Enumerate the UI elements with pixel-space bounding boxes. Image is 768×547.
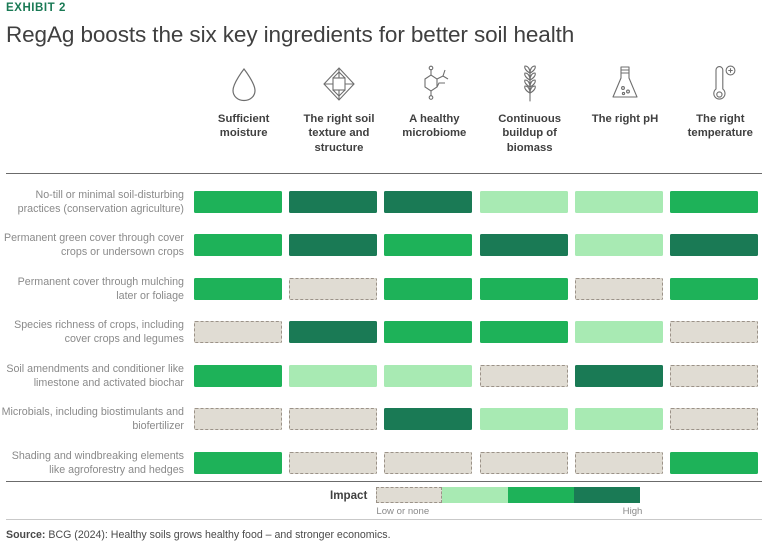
source-note: Source: BCG (2024): Healthy soils grows … bbox=[6, 529, 391, 541]
impact-cell[interactable] bbox=[575, 452, 663, 474]
impact-cell[interactable] bbox=[384, 365, 472, 387]
impact-cell[interactable] bbox=[384, 191, 472, 213]
impact-cell[interactable] bbox=[289, 365, 377, 387]
impact-cell[interactable] bbox=[670, 452, 758, 474]
row-label: Soil amendments and conditioner like lim… bbox=[0, 362, 190, 390]
impact-cell[interactable] bbox=[480, 234, 568, 256]
table-row: Permanent cover through mulching later o… bbox=[0, 267, 768, 311]
impact-cell[interactable] bbox=[670, 278, 758, 300]
impact-cell[interactable] bbox=[575, 278, 663, 300]
column-header-label: The right soil texture and structure bbox=[291, 112, 386, 155]
table-row: No-till or minimal soil-disturbing pract… bbox=[0, 180, 768, 224]
impact-cell[interactable] bbox=[194, 452, 282, 474]
impact-cell[interactable] bbox=[194, 278, 282, 300]
impact-cell[interactable] bbox=[480, 365, 568, 387]
impact-cell[interactable] bbox=[289, 321, 377, 343]
column-headers: Sufficient moisture The right soil textu… bbox=[196, 62, 768, 166]
table-row: Shading and windbreaking elements like a… bbox=[0, 441, 768, 485]
row-cells bbox=[190, 180, 762, 224]
impact-cell[interactable] bbox=[289, 278, 377, 300]
column-header-soil-structure: The right soil texture and structure bbox=[291, 62, 386, 166]
impact-cell[interactable] bbox=[289, 452, 377, 474]
legend-title: Impact bbox=[330, 489, 367, 502]
impact-cell[interactable] bbox=[194, 191, 282, 213]
table-row: Soil amendments and conditioner like lim… bbox=[0, 354, 768, 398]
row-cells bbox=[190, 398, 762, 442]
row-label: Permanent cover through mulching later o… bbox=[0, 275, 190, 303]
impact-cell[interactable] bbox=[480, 452, 568, 474]
legend-scale-wrap: Low or none High bbox=[376, 487, 642, 517]
column-header-microbiome: A healthy microbiome bbox=[387, 62, 482, 166]
impact-cell[interactable] bbox=[575, 365, 663, 387]
table-row: Species richness of crops, including cov… bbox=[0, 311, 768, 355]
row-cells bbox=[190, 441, 762, 485]
column-header-label: The right temperature bbox=[673, 112, 768, 141]
wheat-stalk-icon bbox=[508, 62, 552, 106]
impact-cell[interactable] bbox=[575, 191, 663, 213]
soil-structure-icon bbox=[317, 62, 361, 106]
impact-cell[interactable] bbox=[480, 408, 568, 430]
row-cells bbox=[190, 311, 762, 355]
footer-divider bbox=[6, 519, 762, 520]
row-label: Permanent green cover through cover crop… bbox=[0, 231, 190, 259]
impact-cell[interactable] bbox=[194, 234, 282, 256]
column-header-temperature: The right temperature bbox=[673, 62, 768, 166]
impact-cell[interactable] bbox=[575, 321, 663, 343]
impact-cell[interactable] bbox=[289, 234, 377, 256]
impact-cell[interactable] bbox=[480, 321, 568, 343]
exhibit-label: EXHIBIT 2 bbox=[6, 2, 66, 14]
impact-cell[interactable] bbox=[194, 408, 282, 430]
column-header-label: Continuous buildup of biomass bbox=[482, 112, 577, 155]
impact-cell[interactable] bbox=[384, 278, 472, 300]
row-label: Species richness of crops, including cov… bbox=[0, 318, 190, 346]
column-header-moisture: Sufficient moisture bbox=[196, 62, 291, 166]
exhibit-page: EXHIBIT 2 RegAg boosts the six key ingre… bbox=[0, 0, 768, 547]
legend-captions: Low or none High bbox=[376, 506, 642, 517]
legend: Impact Low or none High bbox=[330, 487, 642, 517]
impact-cell[interactable] bbox=[194, 365, 282, 387]
table-row: Microbials, including biostimulants and … bbox=[0, 398, 768, 442]
impact-cell[interactable] bbox=[670, 408, 758, 430]
impact-cell[interactable] bbox=[384, 452, 472, 474]
column-header-label: Sufficient moisture bbox=[196, 112, 291, 141]
table-row: Permanent green cover through cover crop… bbox=[0, 224, 768, 268]
impact-cell[interactable] bbox=[670, 234, 758, 256]
header-divider bbox=[6, 173, 762, 174]
column-header-biomass: Continuous buildup of biomass bbox=[482, 62, 577, 166]
row-label: No-till or minimal soil-disturbing pract… bbox=[0, 188, 190, 216]
legend-caption-low: Low or none bbox=[376, 506, 429, 517]
legend-scale bbox=[376, 487, 642, 503]
source-label: Source: bbox=[6, 529, 45, 541]
impact-cell[interactable] bbox=[384, 321, 472, 343]
impact-cell[interactable] bbox=[289, 191, 377, 213]
impact-cell[interactable] bbox=[194, 321, 282, 343]
impact-cell[interactable] bbox=[575, 408, 663, 430]
legend-swatch-none bbox=[376, 487, 442, 503]
impact-cell[interactable] bbox=[480, 278, 568, 300]
thermometer-icon bbox=[698, 62, 742, 106]
impact-matrix: No-till or minimal soil-disturbing pract… bbox=[0, 180, 768, 485]
legend-swatch-medium bbox=[508, 487, 574, 503]
water-droplet-icon bbox=[222, 62, 266, 106]
impact-cell[interactable] bbox=[384, 408, 472, 430]
row-label: Microbials, including biostimulants and … bbox=[0, 405, 190, 433]
impact-cell[interactable] bbox=[480, 191, 568, 213]
legend-swatch-low bbox=[442, 487, 508, 503]
impact-cell[interactable] bbox=[289, 408, 377, 430]
legend-caption-high: High bbox=[623, 506, 643, 517]
column-header-ph: The right pH bbox=[577, 62, 672, 166]
row-cells bbox=[190, 354, 762, 398]
impact-cell[interactable] bbox=[384, 234, 472, 256]
microbiome-molecule-icon bbox=[412, 62, 456, 106]
impact-cell[interactable] bbox=[670, 191, 758, 213]
page-title: RegAg boosts the six key ingredients for… bbox=[6, 22, 574, 48]
row-cells bbox=[190, 267, 762, 311]
row-label: Shading and windbreaking elements like a… bbox=[0, 449, 190, 477]
column-header-label: The right pH bbox=[589, 112, 662, 126]
row-cells bbox=[190, 224, 762, 268]
impact-cell[interactable] bbox=[670, 365, 758, 387]
impact-cell[interactable] bbox=[670, 321, 758, 343]
source-text: BCG (2024): Healthy soils grows healthy … bbox=[45, 529, 390, 541]
impact-cell[interactable] bbox=[575, 234, 663, 256]
legend-swatch-high bbox=[574, 487, 640, 503]
column-header-label: A healthy microbiome bbox=[387, 112, 482, 141]
flask-icon bbox=[603, 62, 647, 106]
matrix-bottom-divider bbox=[6, 481, 762, 482]
